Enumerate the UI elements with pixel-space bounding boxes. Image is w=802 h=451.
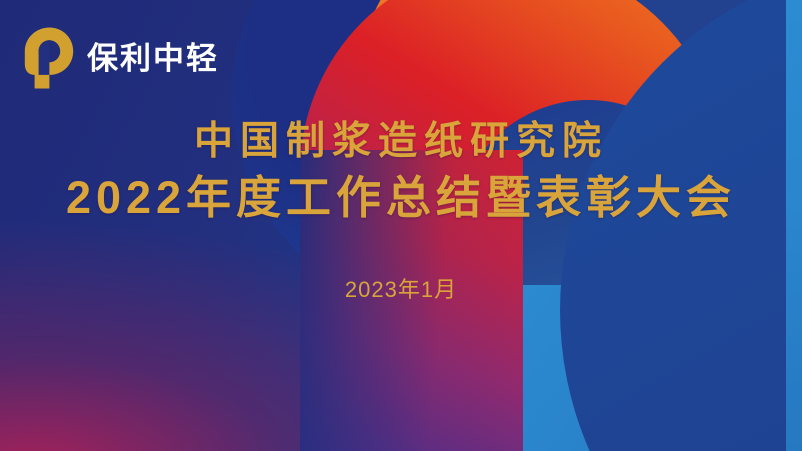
title-slide: 保利中轻 中国制浆造纸研究院 2022年度工作总结暨表彰大会 2023年1月 (0, 0, 802, 451)
slide-date: 2023年1月 (0, 272, 802, 304)
right-edge-strip (786, 0, 802, 451)
poly-p-logo-icon (24, 27, 74, 89)
brand-name-text: 保利中轻 (87, 43, 219, 74)
brand-lockup: 保利中轻 (24, 27, 219, 89)
